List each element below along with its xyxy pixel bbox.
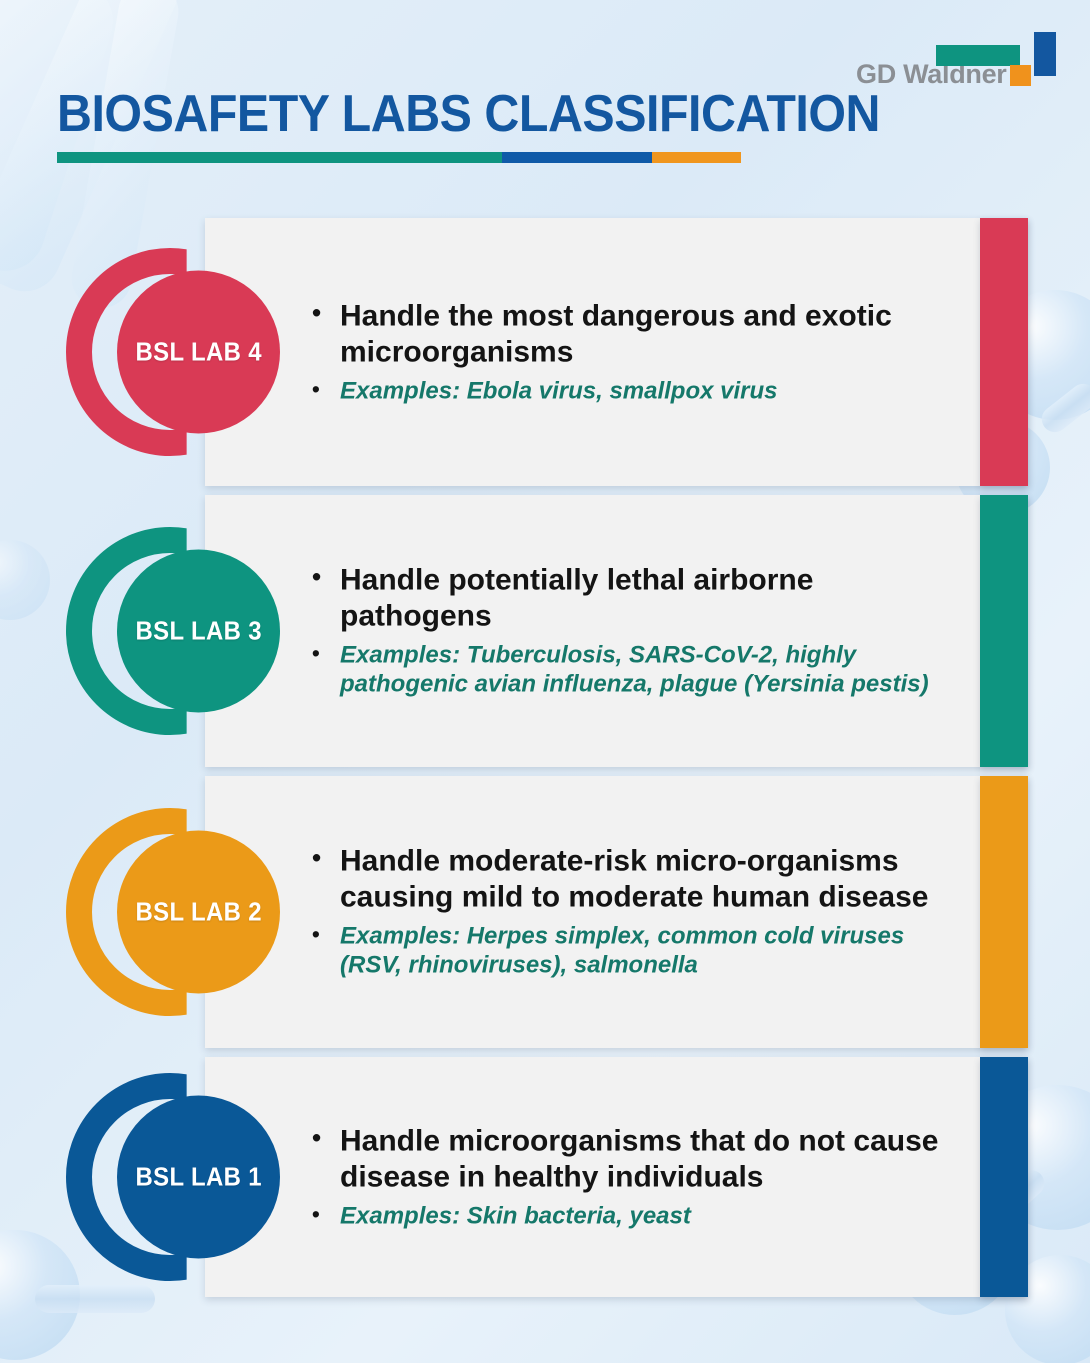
card-accent-bar <box>980 218 1028 486</box>
badge-inner-disc: BSL LAB 4 <box>117 271 280 434</box>
bsl-card-row[interactable]: BSL LAB 2Handle moderate-risk micro-orga… <box>0 776 1090 1048</box>
logo-teal-bar-icon <box>936 45 1020 66</box>
page-header: GD Waldner BIOSAFETY LABS CLASSIFICATION <box>0 0 1090 200</box>
card-content: Handle the most dangerous and exotic mic… <box>310 298 960 405</box>
bsl-card-list: BSL LAB 4Handle the most dangerous and e… <box>0 218 1090 1306</box>
badge-label: BSL LAB 2 <box>135 897 261 928</box>
brand-logo[interactable]: GD Waldner <box>856 32 1056 94</box>
badge-inner-disc: BSL LAB 1 <box>117 1096 280 1259</box>
badge-label: BSL LAB 4 <box>135 337 261 368</box>
badge-label: BSL LAB 3 <box>135 616 261 647</box>
bsl-level-badge[interactable]: BSL LAB 4 <box>66 227 281 477</box>
card-accent-bar <box>980 776 1028 1048</box>
card-content: Handle moderate-risk micro-organisms cau… <box>310 844 960 981</box>
card-main-bullet: Handle microorganisms that do not cause … <box>310 1123 960 1195</box>
badge-inner-disc: BSL LAB 3 <box>117 550 280 713</box>
rule-segment-blue <box>502 152 652 163</box>
badge-label: BSL LAB 1 <box>135 1162 261 1193</box>
bsl-card-row[interactable]: BSL LAB 1Handle microorganisms that do n… <box>0 1057 1090 1297</box>
card-example-bullet: Examples: Ebola virus, smallpox virus <box>310 376 960 405</box>
card-bullet-list: Handle the most dangerous and exotic mic… <box>310 298 960 405</box>
bsl-card-row[interactable]: BSL LAB 3Handle potentially lethal airbo… <box>0 495 1090 767</box>
card-example-bullet: Examples: Herpes simplex, common cold vi… <box>310 922 960 981</box>
card-content: Handle potentially lethal airborne patho… <box>310 563 960 700</box>
card-example-bullet: Examples: Skin bacteria, yeast <box>310 1201 960 1230</box>
card-bullet-list: Handle potentially lethal airborne patho… <box>310 563 960 700</box>
title-underline-rule <box>57 152 741 163</box>
card-example-bullet: Examples: Tuberculosis, SARS-CoV-2, high… <box>310 641 960 700</box>
card-main-bullet: Handle potentially lethal airborne patho… <box>310 563 960 635</box>
card-main-bullet: Handle moderate-risk micro-organisms cau… <box>310 844 960 916</box>
bsl-level-badge[interactable]: BSL LAB 1 <box>66 1052 281 1302</box>
card-accent-bar <box>980 495 1028 767</box>
bsl-card-row[interactable]: BSL LAB 4Handle the most dangerous and e… <box>0 218 1090 486</box>
logo-orange-square-icon <box>1010 65 1031 86</box>
card-accent-bar <box>980 1057 1028 1297</box>
card-bullet-list: Handle microorganisms that do not cause … <box>310 1123 960 1230</box>
bsl-level-badge[interactable]: BSL LAB 2 <box>66 787 281 1037</box>
rule-segment-teal <box>57 152 502 163</box>
card-bullet-list: Handle moderate-risk micro-organisms cau… <box>310 844 960 981</box>
card-main-bullet: Handle the most dangerous and exotic mic… <box>310 298 960 370</box>
badge-inner-disc: BSL LAB 2 <box>117 831 280 994</box>
logo-blue-bar-icon <box>1034 32 1056 76</box>
page-title: BIOSAFETY LABS CLASSIFICATION <box>57 88 880 140</box>
card-content: Handle microorganisms that do not cause … <box>310 1123 960 1230</box>
rule-segment-orange <box>652 152 741 163</box>
bsl-level-badge[interactable]: BSL LAB 3 <box>66 506 281 756</box>
